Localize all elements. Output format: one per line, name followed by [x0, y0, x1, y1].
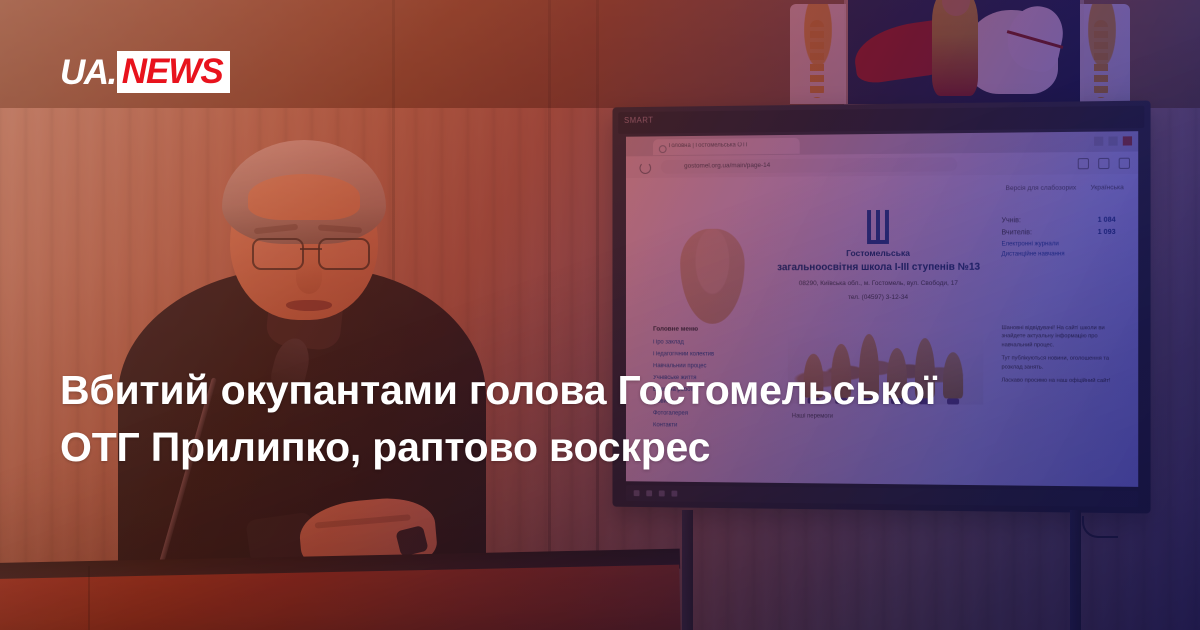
vignette-overlay [0, 0, 1200, 630]
social-share-card: SMART Головна | Гостомельська ОТГ [0, 0, 1200, 630]
logo-news-text: NEWS [117, 51, 230, 93]
uanews-logo[interactable]: UA. NEWS [60, 52, 230, 92]
logo-ua-text: UA. [60, 55, 117, 90]
page-title: Вбитий окупантами голова Гостомельської … [60, 362, 1020, 476]
